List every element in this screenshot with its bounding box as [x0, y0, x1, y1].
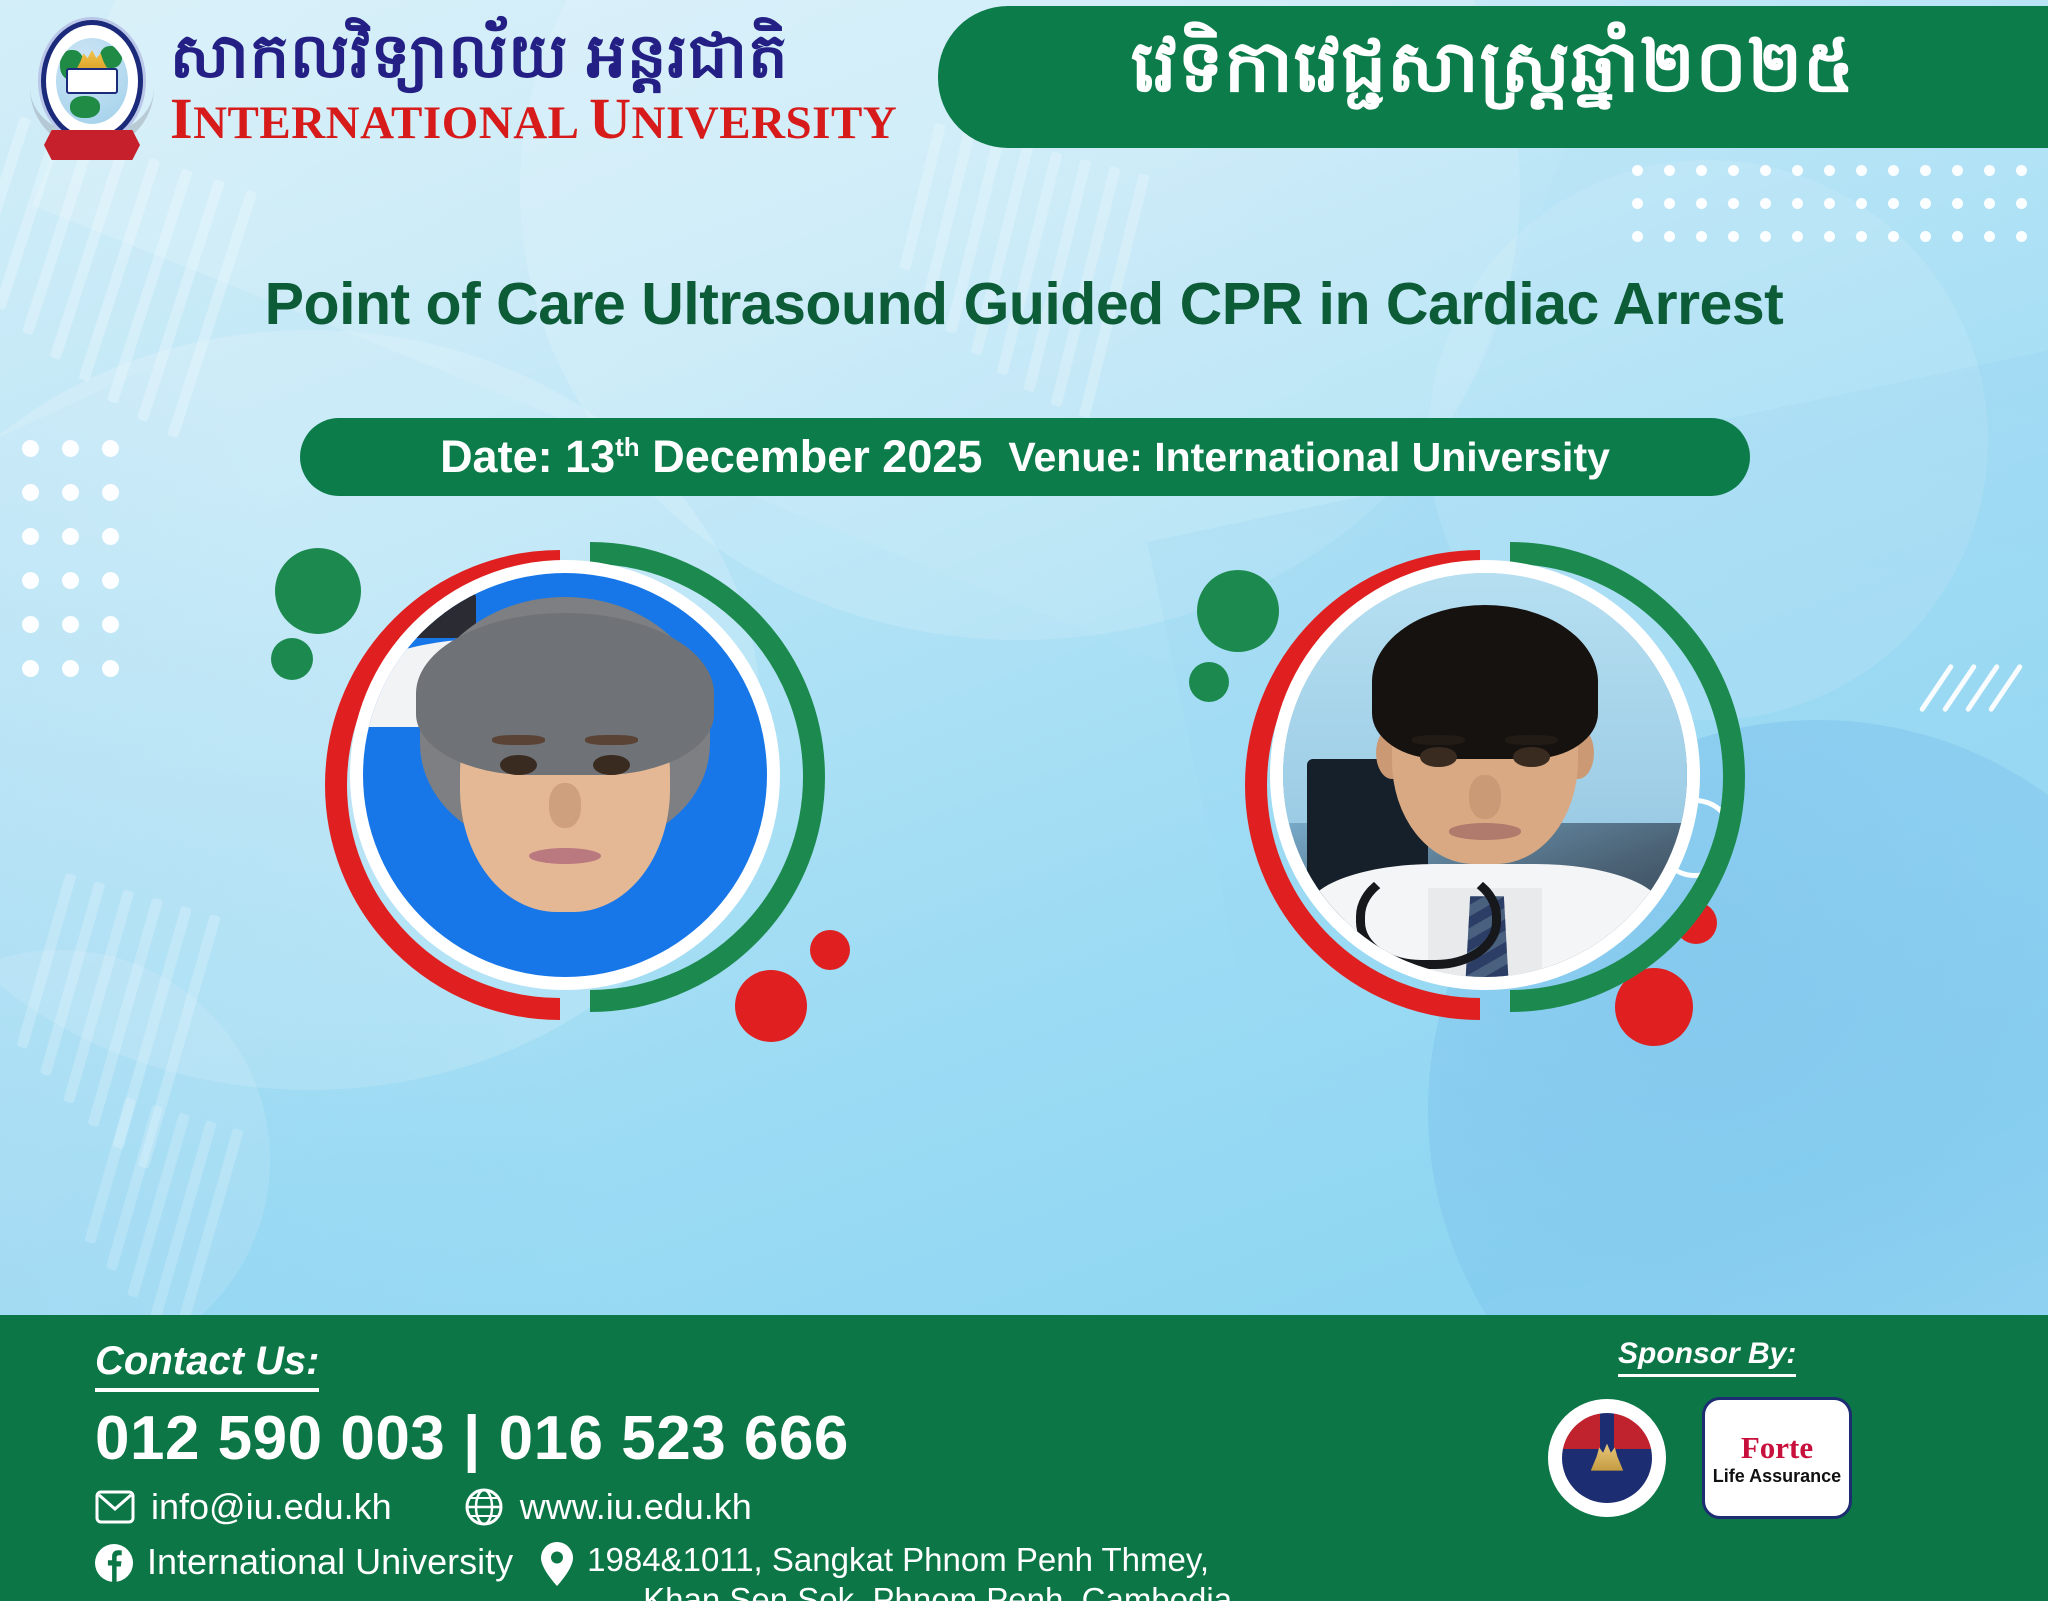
diagonal-slashes-right: [1934, 660, 2008, 716]
deco-circle-green-small-left: [271, 638, 313, 680]
event-series-banner: វេទិកាវេជ្ជសាស្ត្រឆ្នាំ២០២៥: [938, 6, 2048, 148]
avatar-moderator: [363, 573, 767, 977]
international-university-crest-icon: [30, 12, 154, 162]
contact-row-email-web: info@iu.edu.kh www.iu.edu.kh: [95, 1485, 752, 1528]
contact-phone-numbers: 012 590 003 | 016 523 666: [95, 1403, 849, 1474]
contact-address: 1984&1011, Sangkat Phnom Penh Thmey, Kha…: [587, 1540, 1232, 1601]
contact-us-label: Contact Us:: [95, 1339, 319, 1392]
photo-area-right: [1185, 520, 1785, 1080]
sen-sok-hospital-logo-icon: [1548, 1399, 1666, 1517]
deco-circle-green-small-right: [1189, 662, 1229, 702]
avatar-speaker: [1283, 573, 1687, 977]
page-title: Point of Care Ultrasound Guided CPR in C…: [0, 270, 2048, 338]
location-pin-icon: [541, 1542, 573, 1586]
deco-circle-red-tiny-left: [810, 930, 850, 970]
dot-grid-top-right: [1632, 165, 2048, 264]
photo-area-left: [265, 520, 865, 1080]
date-ordinal-suffix: th: [615, 432, 640, 462]
event-date: Date: 13th December 2025: [440, 431, 982, 483]
email-icon: [95, 1490, 135, 1524]
globe-icon: [464, 1487, 504, 1527]
sponsor-logo-list: Forte Life Assurance: [1548, 1397, 1852, 1519]
contact-row-social-address: International University 1984&1011, Sang…: [95, 1540, 1232, 1601]
sponsor-label: Sponsor By:: [1618, 1337, 1796, 1377]
footer-bar: Contact Us: 012 590 003 | 016 523 666 in…: [0, 1315, 2048, 1601]
deco-circle-red-large-left: [735, 970, 807, 1042]
contact-website[interactable]: www.iu.edu.kh: [520, 1485, 752, 1528]
poster-canvas: សាកលវិទ្យាល័យ អន្តរជាតិ INTERNATIONAL UN…: [0, 0, 2048, 1601]
contact-facebook[interactable]: International University: [147, 1540, 513, 1583]
avatar-frame-right: [1270, 560, 1700, 990]
deco-circle-green-large-right: [1197, 570, 1279, 652]
deco-circle-green-large-left: [275, 548, 361, 634]
avatar-frame-left: [350, 560, 780, 990]
person-card-moderator: Moderator Prof. Dr. So Saphy Counselor o…: [150, 520, 980, 1080]
facebook-icon: [95, 1544, 133, 1582]
event-venue: Venue: International University: [1008, 434, 1610, 481]
university-name-english: INTERNATIONAL UNIVERSITY: [170, 89, 897, 150]
dot-grid-left: [22, 440, 142, 704]
person-card-speaker: Speaker Dr. KEA Sokleng, MD, MBAHM, PhD …: [1070, 520, 1900, 1080]
university-logo-block: សាកលវិទ្យាល័យ អន្តរជាតិ INTERNATIONAL UN…: [30, 12, 897, 162]
forte-life-assurance-logo: Forte Life Assurance: [1702, 1397, 1852, 1519]
event-series-banner-text: វេទិកាវេជ្ជសាស្ត្រឆ្នាំ២០២៥: [1131, 22, 1855, 133]
date-venue-bar: Date: 13th December 2025 Venue: Internat…: [300, 418, 1750, 496]
sponsor-section: Sponsor By: Forte Life Assurance: [1488, 1315, 2048, 1601]
contact-email[interactable]: info@iu.edu.kh: [151, 1485, 392, 1528]
university-name-khmer: សាកលវិទ្យាល័យ អន្តរជាតិ: [170, 24, 897, 89]
